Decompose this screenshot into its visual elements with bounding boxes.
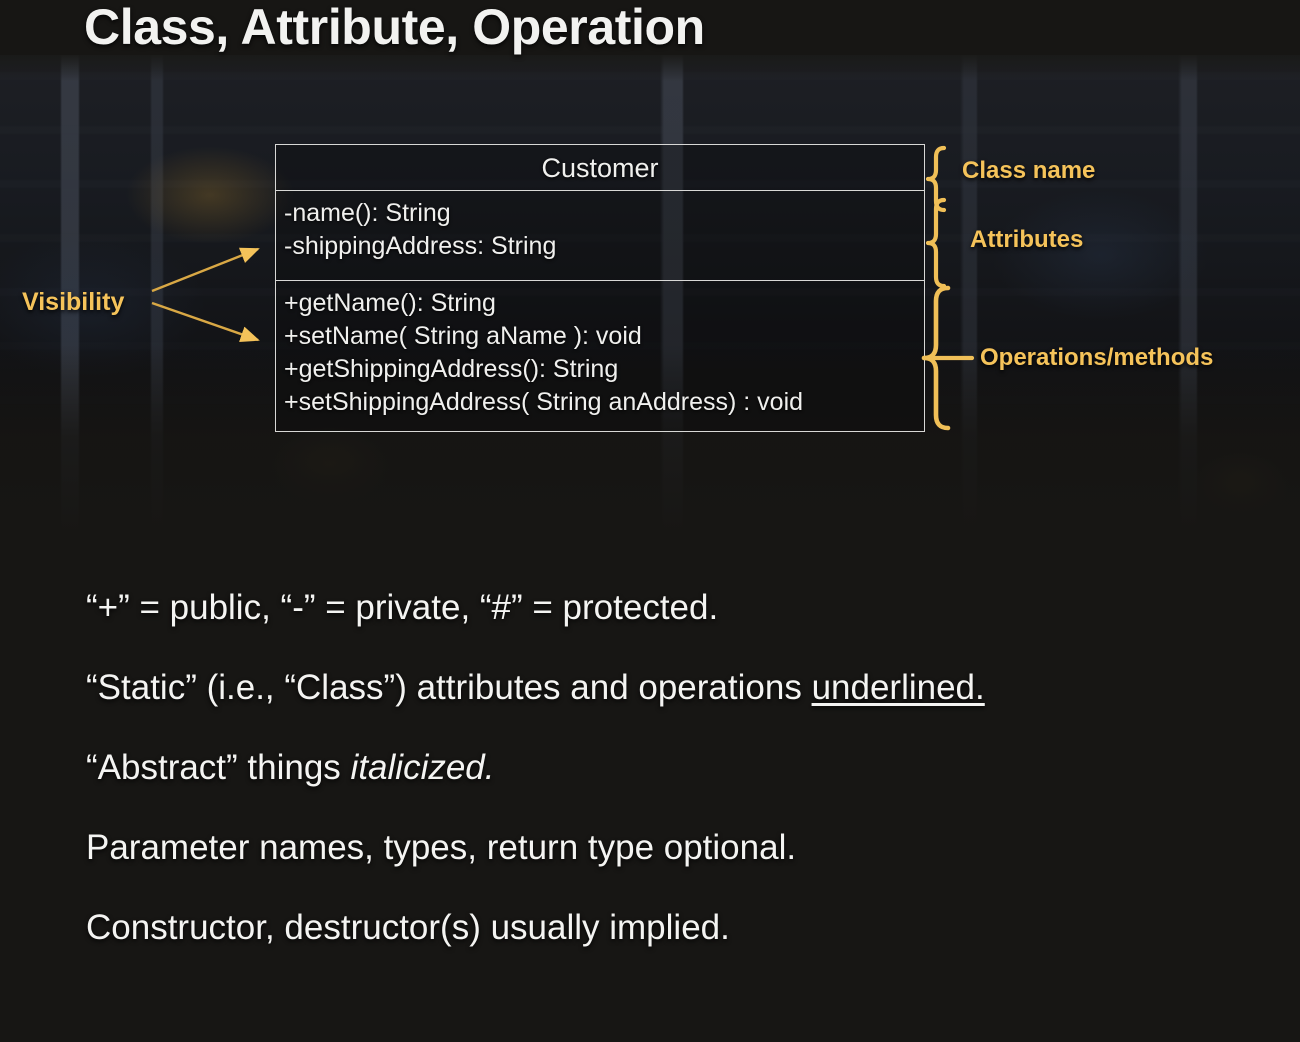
bullet-parameters: Parameter names, types, return type opti… xyxy=(86,826,1246,869)
bullet-text-italic: italicized. xyxy=(351,748,495,787)
uml-operation-line: +getName(): String xyxy=(284,287,924,320)
bullet-static: “Static” (i.e., “Class”) attributes and … xyxy=(86,666,1246,709)
uml-operation-line: +getShippingAddress(): String xyxy=(284,353,924,386)
uml-class-name-compartment: Customer xyxy=(276,145,924,191)
annotation-operations: Operations/methods xyxy=(980,344,1213,372)
slide-canvas: Class, Attribute, Operation Customer -na… xyxy=(0,0,1300,1042)
uml-attribute-line: -shippingAddress: String xyxy=(284,230,924,263)
bullet-constructor: Constructor, destructor(s) usually impli… xyxy=(86,906,1246,949)
uml-operation-line: +setName( String aName ): void xyxy=(284,320,924,353)
bullet-text: Parameter names, types, return type opti… xyxy=(86,828,796,867)
uml-attribute-line: -name(): String xyxy=(284,197,924,230)
annotation-class-name: Class name xyxy=(962,157,1095,185)
bullet-list: “+” = public, “-” = private, “#” = prote… xyxy=(86,586,1246,949)
uml-operations-compartment: +getName(): String +setName( String aNam… xyxy=(276,281,924,433)
uml-operation-line: +setShippingAddress( String anAddress) :… xyxy=(284,386,924,419)
page-title: Class, Attribute, Operation xyxy=(84,0,1184,56)
annotation-attributes: Attributes xyxy=(970,226,1083,254)
bullet-text: Constructor, destructor(s) usually impli… xyxy=(86,908,730,947)
bullet-text: “Static” (i.e., “Class”) attributes and … xyxy=(86,668,812,707)
uml-class-box: Customer -name(): String -shippingAddres… xyxy=(275,144,925,432)
bullet-text-underlined: underlined. xyxy=(812,668,985,707)
bullet-visibility-symbols: “+” = public, “-” = private, “#” = prote… xyxy=(86,586,1246,629)
uml-attributes-compartment: -name(): String -shippingAddress: String xyxy=(276,191,924,281)
photo-top-fade xyxy=(0,55,1300,81)
bullet-text: “Abstract” things xyxy=(86,748,351,787)
uml-class-name: Customer xyxy=(541,153,658,183)
bullet-text: “+” = public, “-” = private, “#” = prote… xyxy=(86,588,718,627)
bullet-abstract: “Abstract” things italicized. xyxy=(86,746,1246,789)
annotation-visibility: Visibility xyxy=(22,288,124,317)
